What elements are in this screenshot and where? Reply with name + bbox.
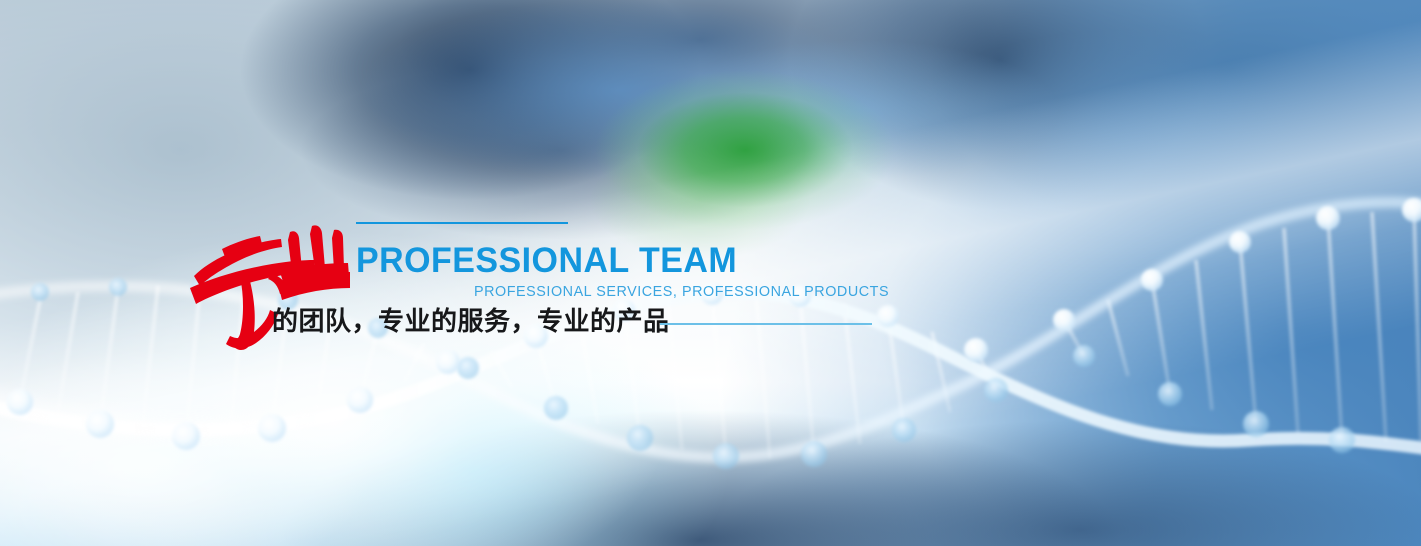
hero-banner: PROFESSIONAL TEAM PROFESSIONAL SERVICES,… — [0, 0, 1421, 546]
chinese-tagline: 的团队，专业的服务，专业的产品 — [272, 306, 670, 340]
top-divider-rule — [356, 222, 568, 224]
background-cyan-glow — [0, 0, 1421, 546]
dna-double-helix-graphic — [0, 0, 1421, 546]
dna-strand-glow — [0, 400, 300, 429]
bottom-divider-rule — [660, 323, 872, 325]
page-subtitle: PROFESSIONAL SERVICES, PROFESSIONAL PROD… — [474, 285, 889, 300]
calligraphy-zhuanye-icon — [186, 214, 350, 350]
background-white-haze — [0, 0, 1421, 546]
background-bottom-shadow — [0, 0, 1421, 546]
background-left-blur-mass — [0, 0, 1421, 546]
dna-strand-back — [0, 202, 1421, 457]
background-blue-midtones — [0, 0, 1421, 546]
background-green-accent — [0, 0, 1421, 546]
background-base-gradient — [0, 0, 1421, 546]
banner-text-block: PROFESSIONAL TEAM PROFESSIONAL SERVICES,… — [0, 0, 1421, 546]
dna-node-group-front — [7, 198, 1421, 450]
dna-strand-front — [0, 293, 1421, 450]
page-title: PROFESSIONAL TEAM — [356, 243, 737, 278]
background-right-blue-field — [0, 0, 1421, 546]
background-dark-equipment — [0, 0, 1421, 546]
dna-node-group-back — [31, 278, 1355, 469]
